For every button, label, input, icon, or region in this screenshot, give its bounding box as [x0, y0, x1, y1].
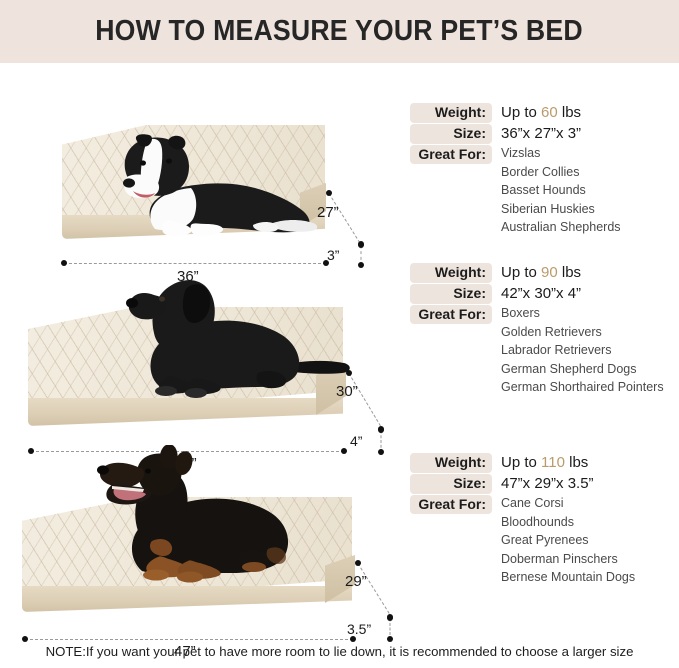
- spec-row-size: Size: 36”x 27”x 3”: [410, 124, 678, 144]
- breed-item: Bloodhounds: [501, 513, 635, 532]
- spec-value-weight: Up to 60 lbs: [492, 103, 581, 122]
- weight-number: 110: [541, 454, 565, 471]
- mattress-front-edge: [28, 398, 343, 426]
- breed-item: German Shepherd Dogs: [501, 360, 664, 379]
- footer-note: NOTE:If you want your pet to have more r…: [0, 644, 679, 659]
- weight-number: 90: [541, 264, 558, 281]
- dimension-dot: [355, 560, 361, 566]
- size-section-large: 42” 30” 4” Weight: Up to 90 lbs Size: 42…: [0, 255, 679, 443]
- spec-row-great-for: Great For: Boxers Golden Retrievers Labr…: [410, 305, 678, 397]
- spec-row-great-for: Great For: Vizslas Border Collies Basset…: [410, 145, 678, 237]
- spec-row-size: Size: 42”x 30”x 4”: [410, 284, 678, 304]
- spec-label-size: Size:: [410, 284, 492, 304]
- spec-panel-large: Weight: Up to 90 lbs Size: 42”x 30”x 4” …: [410, 263, 678, 398]
- dog-border-collie: [103, 133, 323, 238]
- spec-label-weight: Weight:: [410, 453, 492, 473]
- breed-item: Border Collies: [501, 163, 621, 182]
- breed-list-xlarge: Cane Corsi Bloodhounds Great Pyrenees Do…: [492, 494, 635, 587]
- spec-row-weight: Weight: Up to 60 lbs: [410, 103, 678, 123]
- dimension-line-width-xlarge: [358, 563, 393, 618]
- spec-row-weight: Weight: Up to 110 lbs: [410, 453, 678, 473]
- dimension-dot: [358, 242, 364, 248]
- breed-item: Boxers: [501, 304, 664, 323]
- spec-label-size: Size:: [410, 124, 492, 144]
- breed-item: Siberian Huskies: [501, 200, 621, 219]
- dimension-dot: [387, 615, 393, 621]
- breed-item: Labrador Retrievers: [501, 341, 664, 360]
- dog-doberman: [82, 445, 332, 585]
- weight-number: 60: [541, 104, 558, 121]
- dimension-dot: [378, 427, 384, 433]
- dimension-label-height-xlarge: 3.5”: [347, 621, 371, 637]
- breed-item: Golden Retrievers: [501, 323, 664, 342]
- breed-list-large: Boxers Golden Retrievers Labrador Retrie…: [492, 304, 664, 397]
- spec-label-size: Size:: [410, 474, 492, 494]
- size-section-xlarge: 47” 29” 3.5” Weight: Up to 110 lbs Size:…: [0, 443, 679, 635]
- spec-row-great-for: Great For: Cane Corsi Bloodhounds Great …: [410, 495, 678, 587]
- breed-item: Basset Hounds: [501, 181, 621, 200]
- spec-label-weight: Weight:: [410, 263, 492, 283]
- page-title: HOW TO MEASURE YOUR PET’S BED: [96, 15, 584, 48]
- header-band: HOW TO MEASURE YOUR PET’S BED: [0, 0, 679, 63]
- dimension-label-width-large: 30”: [336, 383, 358, 400]
- breed-list-medium: Vizslas Border Collies Basset Hounds Sib…: [492, 144, 621, 237]
- dimension-line-width-large: [349, 373, 384, 430]
- breed-item: German Shorthaired Pointers: [501, 378, 664, 397]
- breed-item: Cane Corsi: [501, 494, 635, 513]
- size-section-medium: 36” 27” 3” Weight: Up to 60 lbs Size: 36…: [0, 63, 679, 255]
- spec-label-great-for: Great For:: [410, 305, 492, 324]
- spec-label-weight: Weight:: [410, 103, 492, 123]
- dog-black-labrador: [110, 273, 360, 401]
- breed-item: Vizslas: [501, 144, 621, 163]
- spec-value-weight: Up to 90 lbs: [492, 263, 581, 282]
- spec-value-size: 47”x 29”x 3.5”: [492, 474, 594, 493]
- mattress-front-edge: [22, 586, 352, 612]
- spec-row-size: Size: 47”x 29”x 3.5”: [410, 474, 678, 494]
- spec-label-great-for: Great For:: [410, 495, 492, 514]
- spec-panel-xlarge: Weight: Up to 110 lbs Size: 47”x 29”x 3.…: [410, 453, 678, 588]
- dimension-dot: [346, 370, 352, 376]
- dimension-dot: [326, 190, 332, 196]
- breed-item: Bernese Mountain Dogs: [501, 568, 635, 587]
- spec-value-size: 42”x 30”x 4”: [492, 284, 581, 303]
- breed-item: Great Pyrenees: [501, 531, 635, 550]
- breed-item: Australian Shepherds: [501, 218, 621, 237]
- dimension-dot: [22, 636, 28, 642]
- spec-label-great-for: Great For:: [410, 145, 492, 164]
- spec-value-size: 36”x 27”x 3”: [492, 124, 581, 143]
- spec-row-weight: Weight: Up to 90 lbs: [410, 263, 678, 283]
- dimension-label-width-xlarge: 29”: [345, 573, 367, 590]
- dimension-dot: [387, 636, 393, 642]
- dimension-line-length-xlarge: [25, 639, 353, 640]
- breed-item: Doberman Pinschers: [501, 550, 635, 569]
- dimension-label-width-medium: 27”: [317, 204, 339, 221]
- spec-value-weight: Up to 110 lbs: [492, 453, 588, 472]
- spec-panel-medium: Weight: Up to 60 lbs Size: 36”x 27”x 3” …: [410, 103, 678, 238]
